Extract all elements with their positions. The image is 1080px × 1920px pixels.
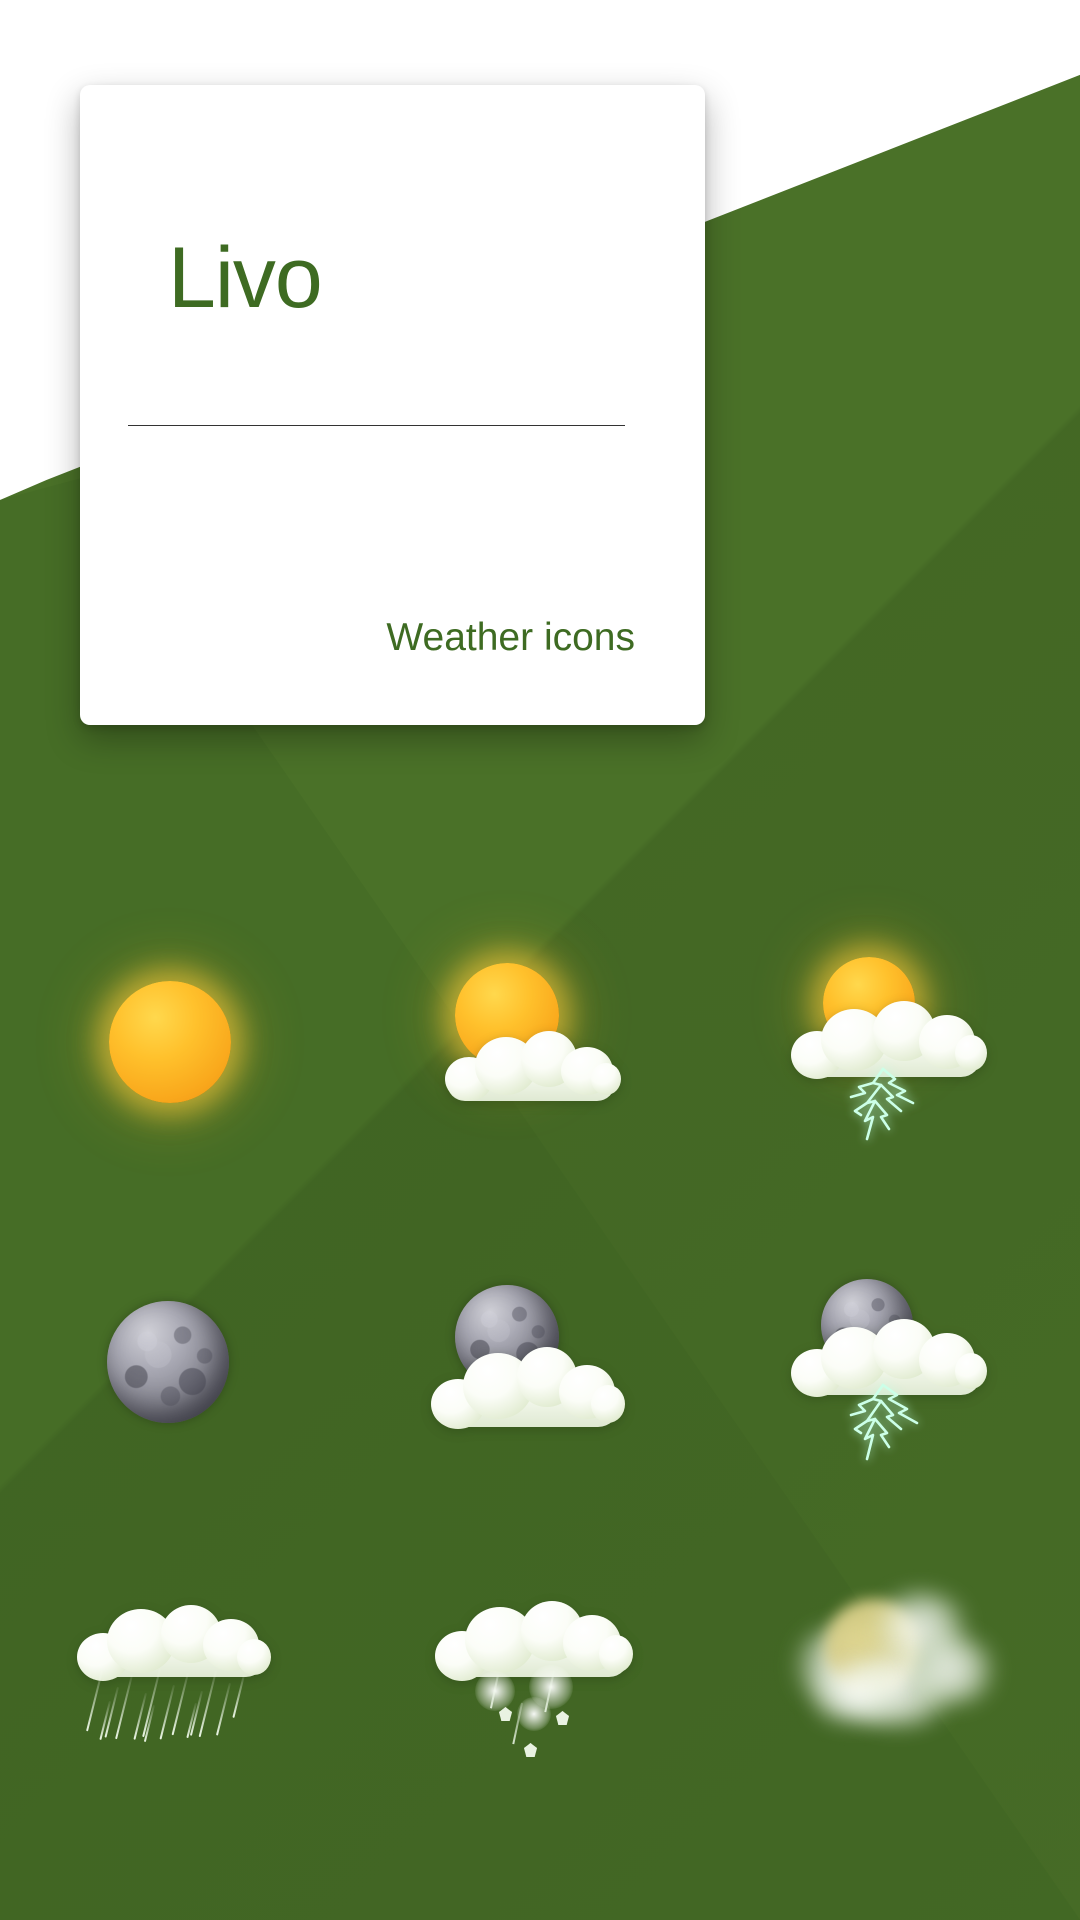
moon-icon — [65, 1255, 295, 1465]
icon-cell-thunderstorm-day[interactable] — [720, 880, 1080, 1200]
cloud-shape — [435, 1601, 635, 1681]
sun-disc — [109, 981, 231, 1103]
page-title: Livo — [168, 235, 322, 321]
weather-icon-grid — [0, 880, 1080, 1840]
cloud-shape — [77, 1605, 273, 1681]
fog-haze-icon — [785, 1575, 1015, 1785]
icon-cell-partly-cloudy-night[interactable] — [360, 1200, 720, 1520]
icon-cell-clear-day[interactable] — [0, 880, 360, 1200]
card-subtitle: Weather icons — [386, 618, 635, 657]
hero-card[interactable]: Livo Weather icons — [80, 85, 705, 725]
title-divider — [128, 425, 625, 426]
cloud-shape — [431, 1347, 627, 1431]
sun-cloud-icon — [425, 935, 655, 1145]
cloud-sleet-icon — [425, 1575, 655, 1785]
moon-disc — [107, 1301, 229, 1423]
icon-cell-thunderstorm-night[interactable] — [720, 1200, 1080, 1520]
icon-cell-partly-cloudy-day[interactable] — [360, 880, 720, 1200]
sun-icon — [65, 935, 295, 1145]
icon-cell-sleet[interactable] — [360, 1520, 720, 1840]
lightning-bolt-icon — [843, 1067, 939, 1145]
lightning-bolt-icon — [841, 1383, 941, 1465]
icon-cell-rain[interactable] — [0, 1520, 360, 1840]
cloud-rain-icon — [65, 1575, 295, 1785]
moon-cloud-lightning-icon — [785, 1255, 1015, 1465]
cloud-shape — [441, 1031, 621, 1105]
icon-cell-fog[interactable] — [720, 1520, 1080, 1840]
sun-cloud-lightning-icon — [785, 935, 1015, 1145]
icon-cell-clear-night[interactable] — [0, 1200, 360, 1520]
moon-cloud-icon — [425, 1255, 655, 1465]
